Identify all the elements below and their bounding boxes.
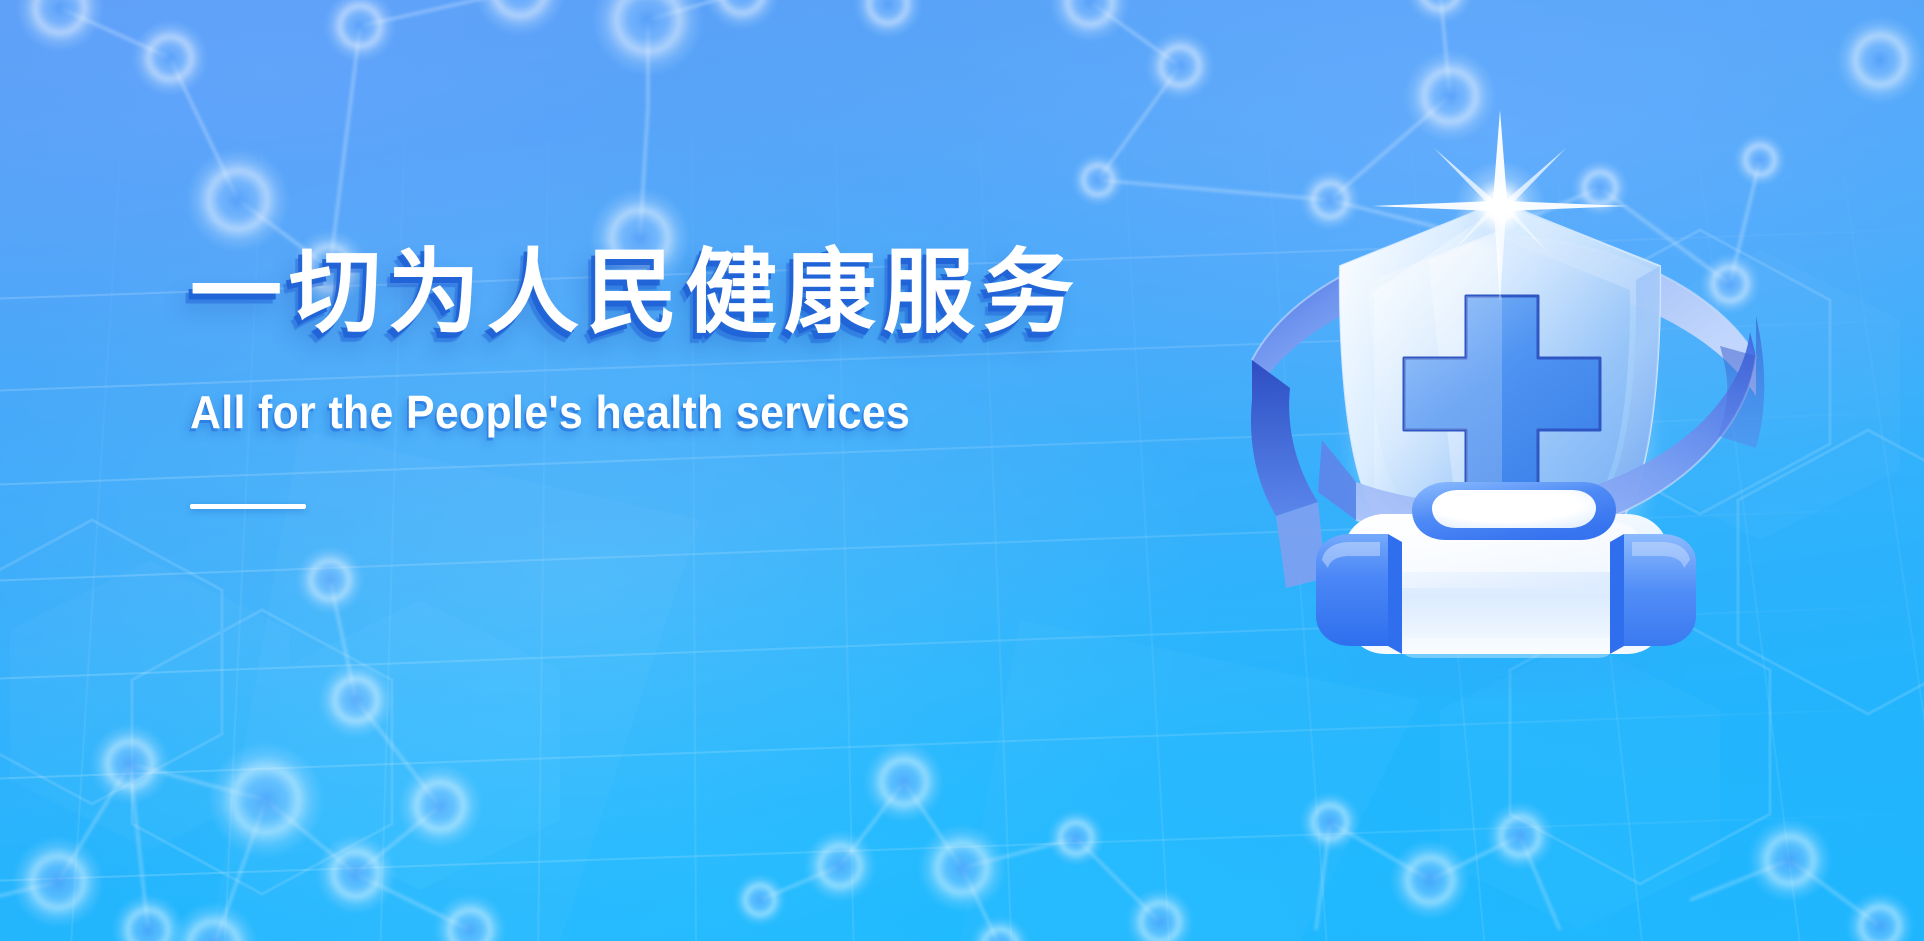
health-hero-banner: 一切为人民健康服务 All for the People's health se… [0, 0, 1924, 941]
page-subtitle: All for the People's health services [190, 387, 1027, 438]
medical-shield-illustration [1190, 110, 1810, 690]
headline-block: 一切为人民健康服务 All for the People's health se… [190, 244, 1090, 509]
page-title: 一切为人民健康服务 [190, 244, 1090, 343]
title-divider [190, 504, 306, 509]
